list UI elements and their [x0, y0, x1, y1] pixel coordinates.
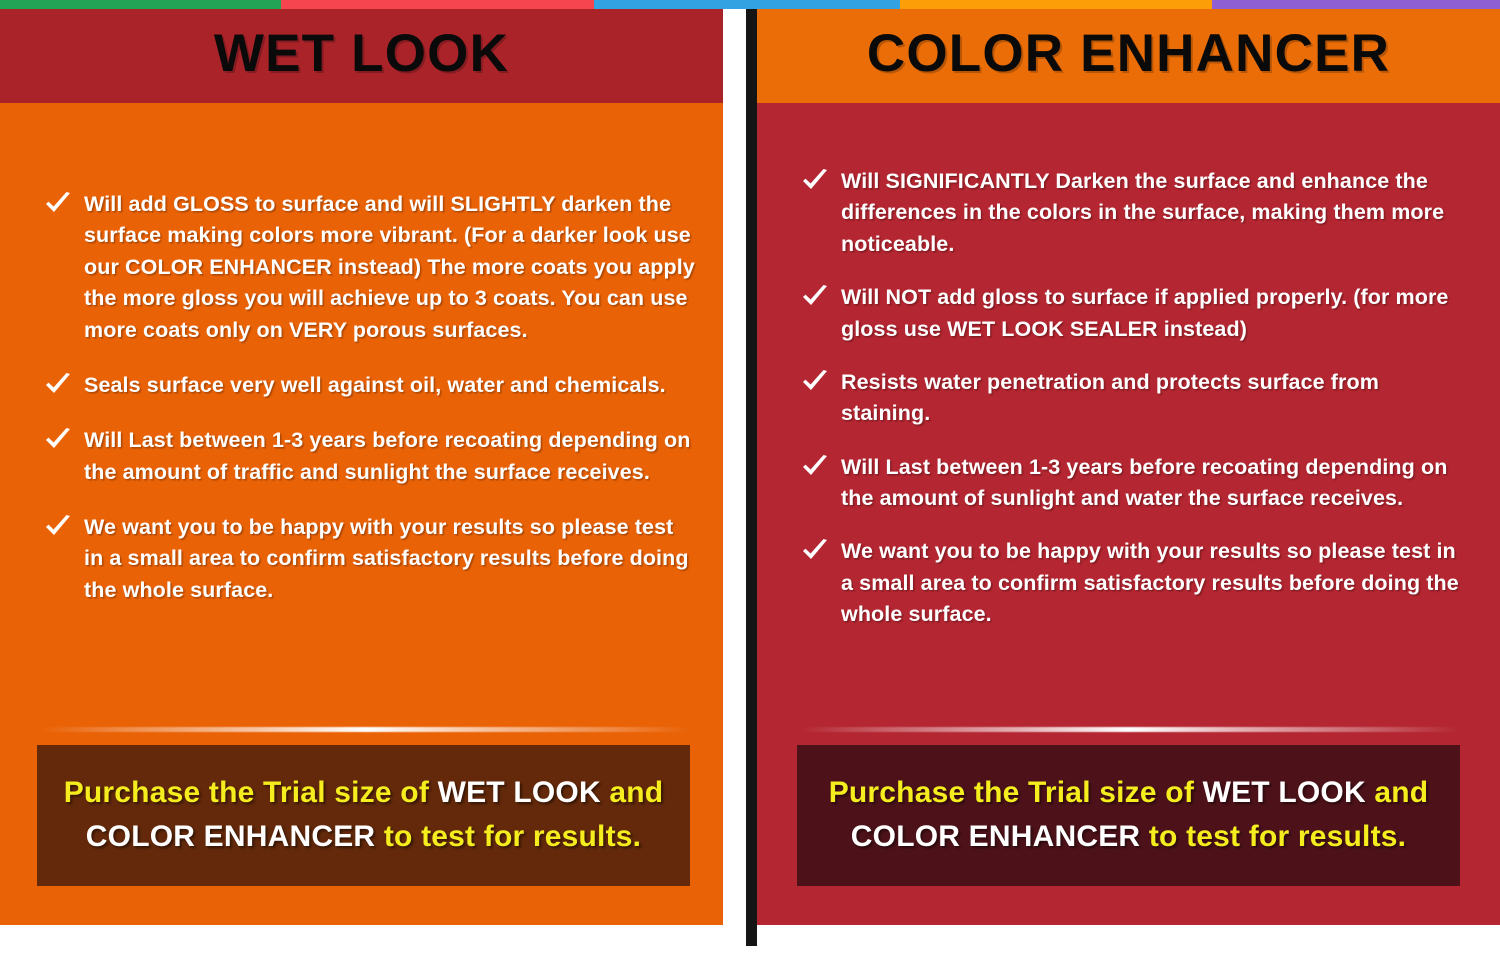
check-icon	[801, 169, 831, 193]
list-item: Seals surface very well against oil, wat…	[44, 370, 697, 401]
color-enhancer-header: COLOR ENHANCER	[757, 4, 1500, 103]
color-enhancer-body: Will SIGNIFICANTLY Darken the surface an…	[757, 103, 1500, 925]
check-icon	[801, 455, 831, 479]
list-item: Will Last between 1-3 years before recoa…	[801, 452, 1470, 515]
list-item: We want you to be happy with your result…	[801, 536, 1470, 630]
list-item-text: Seals surface very well against oil, wat…	[84, 370, 666, 401]
wet-look-callout[interactable]: Purchase the Trial size of WET LOOK and …	[37, 745, 690, 886]
list-item-text: Will Last between 1-3 years before recoa…	[84, 425, 697, 488]
list-item: We want you to be happy with your result…	[44, 512, 697, 606]
callout-part-1: Purchase the Trial size of	[829, 776, 1203, 809]
list-item-text: We want you to be happy with your result…	[84, 512, 697, 606]
check-icon	[801, 539, 831, 563]
callout-text: Purchase the Trial size of WET LOOK and …	[61, 771, 666, 858]
list-item-text: Will SIGNIFICANTLY Darken the surface an…	[841, 166, 1470, 260]
check-icon	[44, 373, 74, 397]
wet-look-body: Will add GLOSS to surface and will SLIGH…	[0, 103, 723, 925]
list-item-text: Will add GLOSS to surface and will SLIGH…	[84, 189, 697, 346]
list-item-text: Will Last between 1-3 years before recoa…	[841, 452, 1470, 515]
list-item: Will SIGNIFICANTLY Darken the surface an…	[801, 166, 1470, 260]
top-color-strip	[0, 0, 1500, 9]
list-item-text: Resists water penetration and protects s…	[841, 367, 1470, 430]
color-enhancer-bullet-list: Will SIGNIFICANTLY Darken the surface an…	[757, 103, 1500, 631]
wet-look-header: WET LOOK	[0, 4, 723, 103]
strip-segment-blue	[594, 0, 900, 9]
column-divider	[746, 0, 757, 946]
list-item: Will Last between 1-3 years before recoa…	[44, 425, 697, 488]
strip-segment-green	[0, 0, 281, 9]
strip-segment-amber	[900, 0, 1212, 9]
list-item-text: Will NOT add gloss to surface if applied…	[841, 282, 1470, 345]
check-icon	[801, 285, 831, 309]
wet-look-bullet-list: Will add GLOSS to surface and will SLIGH…	[0, 103, 723, 606]
list-item: Will NOT add gloss to surface if applied…	[801, 282, 1470, 345]
callout-part-2: WET LOOK	[1203, 776, 1366, 809]
column-color-enhancer: COLOR ENHANCER Will SIGNIFICANTLY Darken…	[757, 4, 1500, 925]
callout-part-1: Purchase the Trial size of	[64, 776, 438, 809]
color-enhancer-callout[interactable]: Purchase the Trial size of WET LOOK and …	[797, 745, 1460, 886]
strip-segment-red	[281, 0, 595, 9]
check-icon	[801, 370, 831, 394]
check-icon	[44, 515, 74, 539]
page-title-wet-look: WET LOOK	[214, 23, 509, 84]
callout-part-4: COLOR ENHANCER	[86, 820, 375, 853]
strip-segment-purple	[1212, 0, 1500, 9]
callout-part-5: to test for results.	[1140, 820, 1406, 853]
section-divider	[40, 727, 691, 732]
callout-part-3: and	[1366, 776, 1428, 809]
callout-part-5: to test for results.	[375, 820, 641, 853]
callout-part-3: and	[601, 776, 663, 809]
column-wet-look: WET LOOK Will add GLOSS to surface and w…	[0, 4, 723, 925]
callout-text: Purchase the Trial size of WET LOOK and …	[821, 771, 1436, 858]
check-icon	[44, 192, 74, 216]
callout-part-2: WET LOOK	[438, 776, 601, 809]
comparison-poster: WET LOOK Will add GLOSS to surface and w…	[0, 0, 1500, 954]
section-divider	[799, 727, 1460, 732]
list-item-text: We want you to be happy with your result…	[841, 536, 1470, 630]
callout-part-4: COLOR ENHANCER	[851, 820, 1140, 853]
check-icon	[44, 428, 74, 452]
list-item: Resists water penetration and protects s…	[801, 367, 1470, 430]
list-item: Will add GLOSS to surface and will SLIGH…	[44, 189, 697, 346]
page-title-color-enhancer: COLOR ENHANCER	[867, 23, 1390, 84]
